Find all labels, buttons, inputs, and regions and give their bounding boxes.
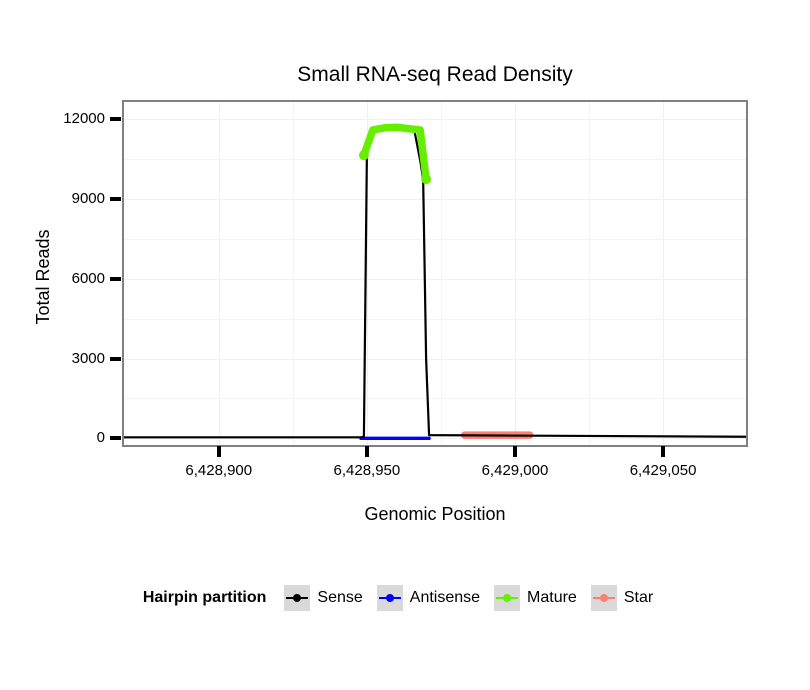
legend-key-dot	[293, 594, 301, 602]
series-point-mature	[421, 174, 431, 184]
x-axis-title: Genomic Position	[122, 503, 748, 525]
chart-legend: Hairpin partition SenseAntisenseMatureSt…	[0, 578, 810, 618]
y-axis-tick-mark	[110, 197, 121, 201]
legend-key-dot	[386, 594, 394, 602]
x-axis-tick-label: 6,429,050	[603, 463, 723, 478]
x-axis-tick-label: 6,428,950	[307, 463, 427, 478]
series-line-mature	[364, 127, 426, 179]
plot-area	[124, 102, 746, 445]
x-axis-tick-mark	[365, 446, 369, 457]
legend-title: Hairpin partition	[143, 589, 267, 607]
x-axis-tick-mark	[217, 446, 221, 457]
y-axis-tick-label: 3000	[45, 351, 105, 366]
chart-figure: Small RNA-seq Read Density 0300060009000…	[0, 0, 810, 690]
y-axis-tick-label: 12000	[45, 111, 105, 126]
y-axis-title: Total Reads	[32, 187, 54, 367]
y-axis-tick-mark	[110, 277, 121, 281]
legend-entry-mature[interactable]: Mature	[494, 585, 577, 611]
legend-entry-list: SenseAntisenseMatureStar	[284, 585, 667, 611]
legend-label: Mature	[527, 590, 577, 606]
y-axis-tick-mark	[110, 357, 121, 361]
legend-key-icon	[591, 585, 617, 611]
y-axis-tick-label: 6000	[45, 271, 105, 286]
y-axis-tick-label: 0	[45, 430, 105, 445]
plot-panel	[122, 100, 748, 447]
legend-key-dot	[503, 594, 511, 602]
legend-entry-sense[interactable]: Sense	[284, 585, 362, 611]
legend-entry-antisense[interactable]: Antisense	[377, 585, 480, 611]
series-point-mature	[359, 150, 369, 160]
y-axis-tick-mark	[110, 117, 121, 121]
legend-key-icon	[494, 585, 520, 611]
x-axis-tick-label: 6,429,000	[455, 463, 575, 478]
legend-key-icon	[377, 585, 403, 611]
x-axis-tick-label: 6,428,900	[159, 463, 279, 478]
legend-key-icon	[284, 585, 310, 611]
legend-key-dot	[600, 594, 608, 602]
y-axis-tick-label: 9000	[45, 191, 105, 206]
x-axis-tick-mark	[513, 446, 517, 457]
series-line-sense	[124, 127, 746, 437]
x-axis-tick-mark	[661, 446, 665, 457]
chart-title: Small RNA-seq Read Density	[122, 62, 748, 88]
data-series-layer	[124, 102, 746, 445]
legend-label: Star	[624, 590, 653, 606]
y-axis-tick-mark	[110, 436, 121, 440]
legend-label: Sense	[317, 590, 362, 606]
legend-entry-star[interactable]: Star	[591, 585, 653, 611]
legend-label: Antisense	[410, 590, 480, 606]
